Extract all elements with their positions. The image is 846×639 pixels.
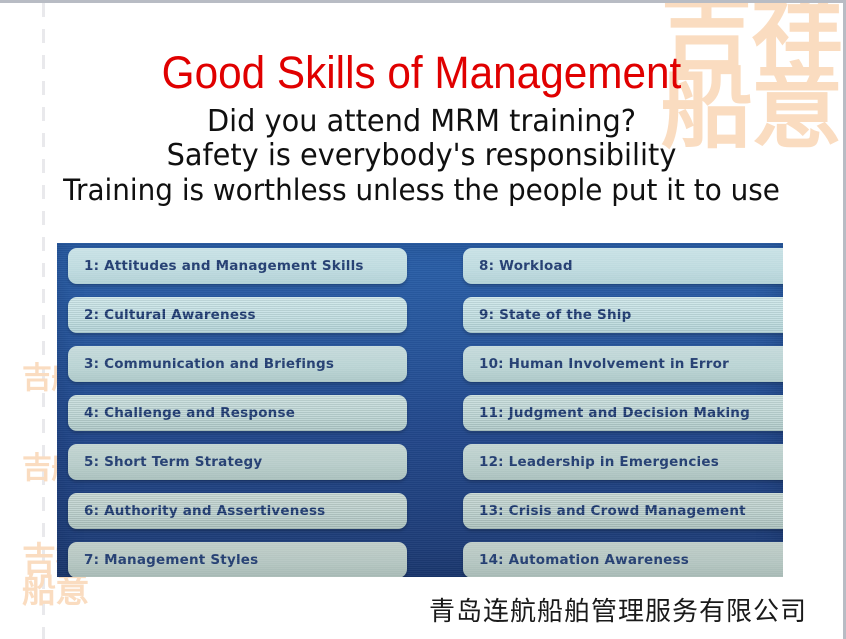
list-item: 12: Leadership in Emergencies — [463, 444, 783, 480]
list-item: 4: Challenge and Response — [68, 395, 407, 431]
list-item: 2: Cultural Awareness — [68, 297, 407, 333]
slide-heading-block: Good Skills of Management Did you attend… — [0, 3, 843, 207]
list-item: 5: Short Term Strategy — [68, 444, 407, 480]
list-item: 6: Authority and Assertiveness — [68, 493, 407, 529]
list-item: 11: Judgment and Decision Making — [463, 395, 783, 431]
list-item: 7: Management Styles — [68, 542, 407, 577]
skills-image-panel: 1: Attitudes and Management Skills 2: Cu… — [57, 243, 783, 577]
skills-right-column: 8: Workload 9: State of the Ship 10: Hum… — [463, 248, 783, 577]
list-item: 13: Crisis and Crowd Management — [463, 493, 783, 529]
list-item: 9: State of the Ship — [463, 297, 783, 333]
list-item: 1: Attitudes and Management Skills — [68, 248, 407, 284]
list-item: 10: Human Involvement in Error — [463, 346, 783, 382]
slide-canvas: 吉祥 船意 吉船 吉船 吉祥船意 Good Skills of Manageme… — [0, 0, 846, 639]
company-name-footer: 青岛连航船舶管理服务有限公司 — [429, 597, 807, 627]
skills-left-column: 1: Attitudes and Management Skills 2: Cu… — [68, 248, 407, 577]
subtitle-line-1: Did you attend MRM training? — [17, 105, 826, 139]
page-title: Good Skills of Management — [25, 47, 817, 99]
list-item: 8: Workload — [463, 248, 783, 284]
subtitle-line-2: Safety is everybody's responsibility — [17, 139, 826, 173]
list-item: 3: Communication and Briefings — [68, 346, 407, 382]
subtitle-line-3: Training is worthless unless the people … — [17, 173, 826, 207]
list-item: 14: Automation Awareness — [463, 542, 783, 577]
